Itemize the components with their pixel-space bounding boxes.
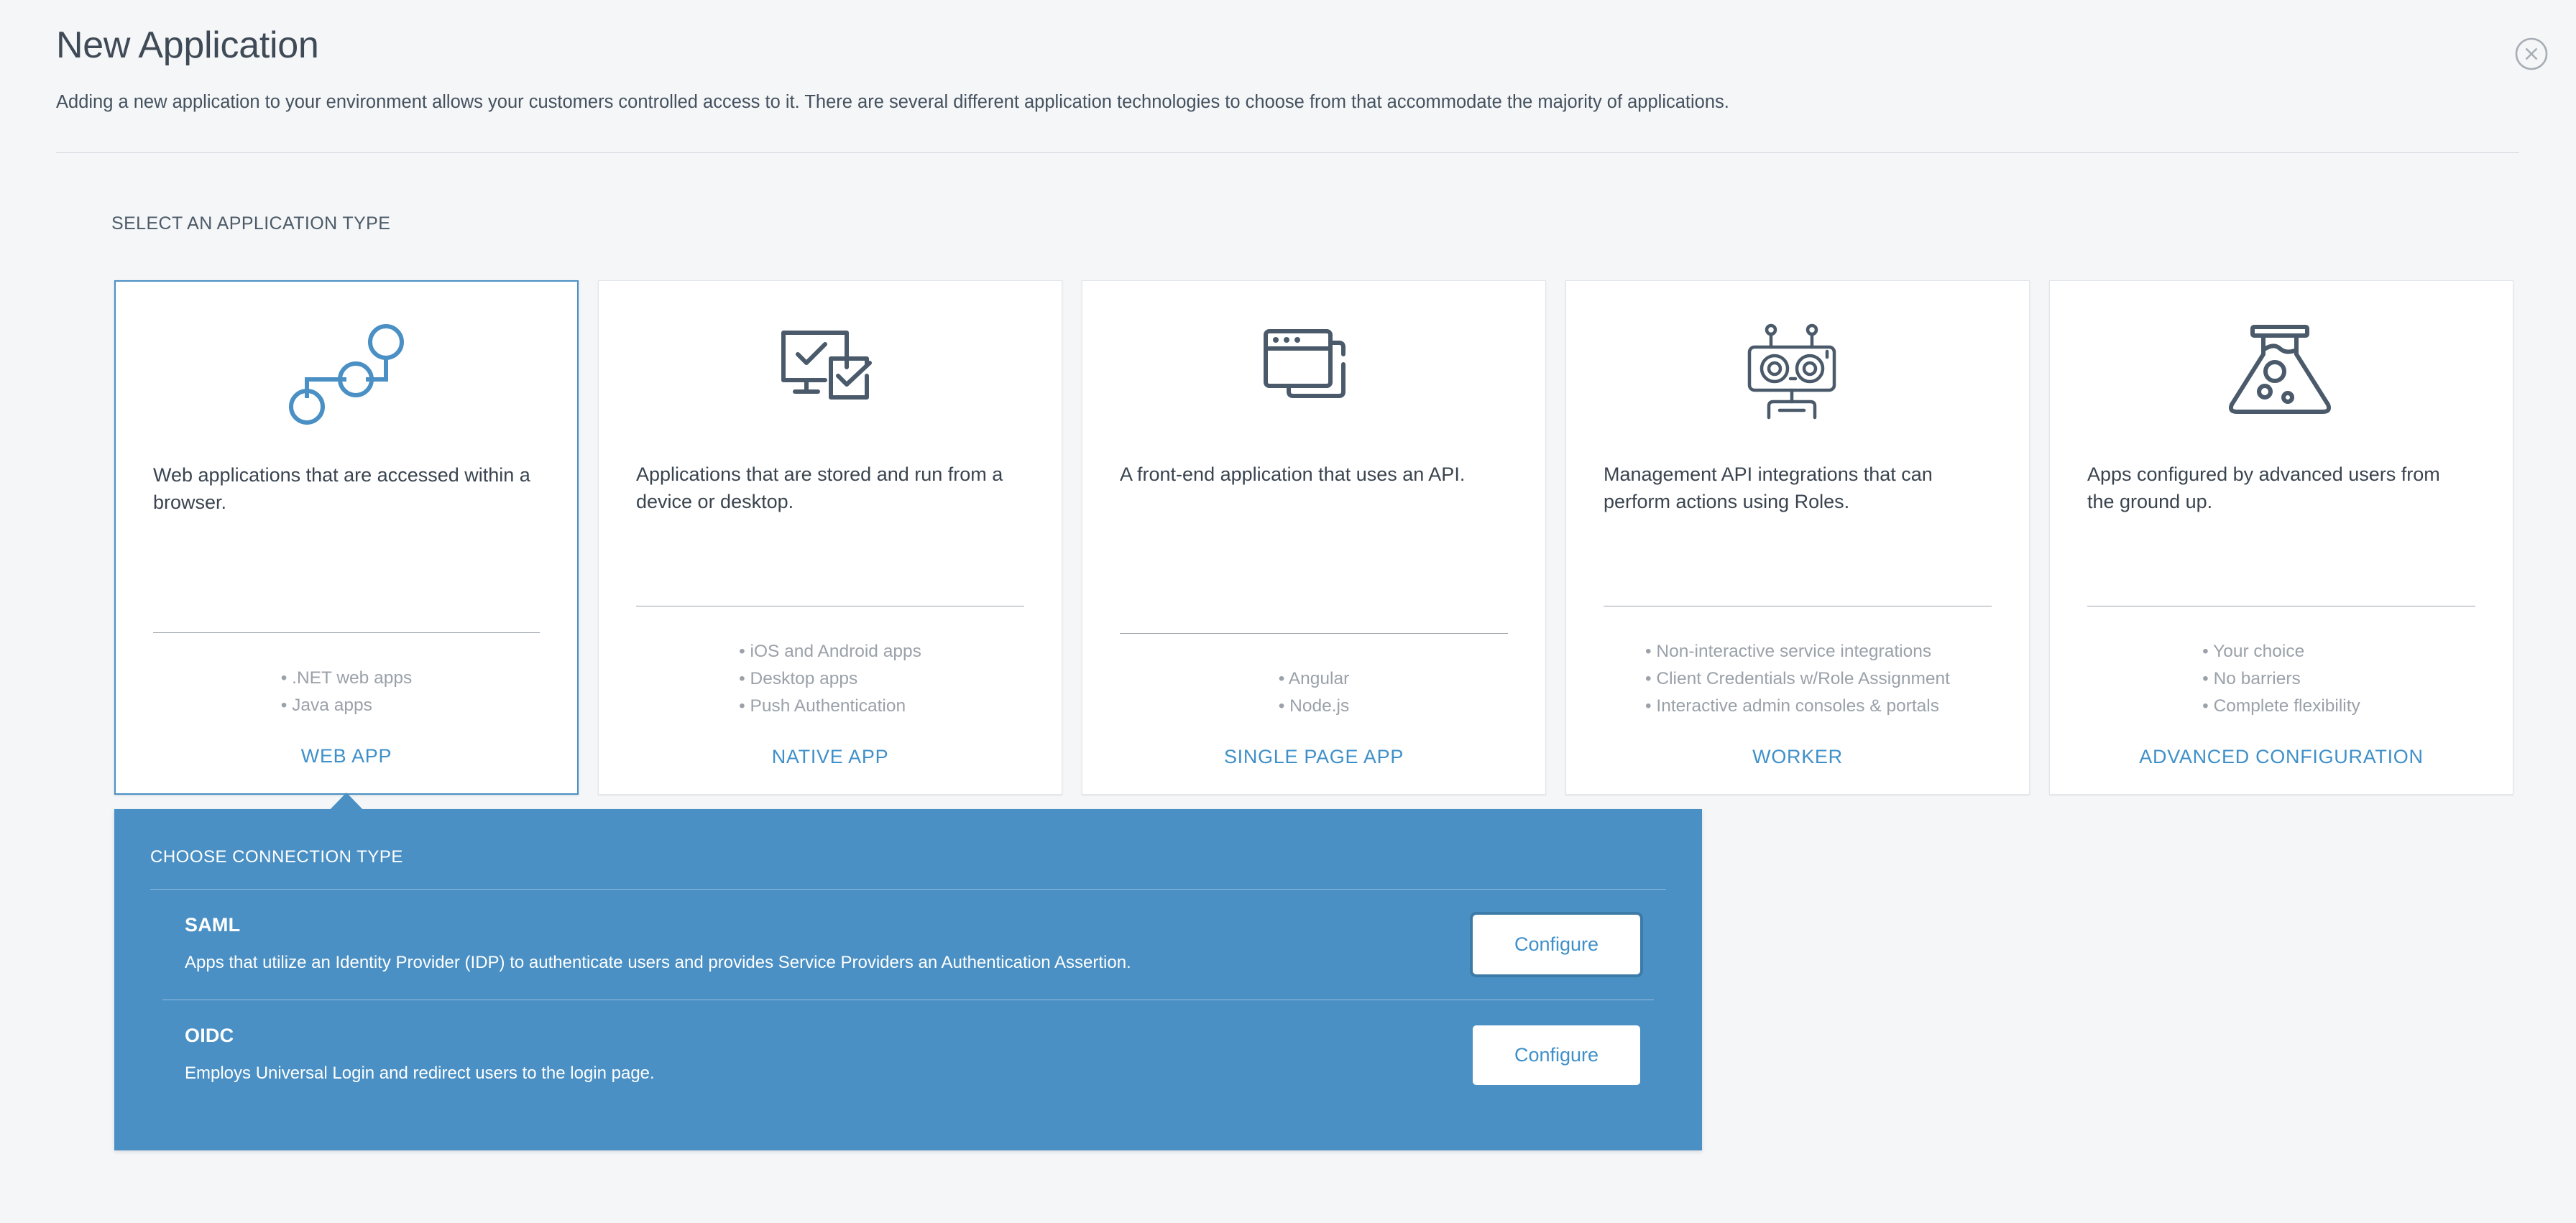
connection-name: SAML xyxy=(185,914,1444,936)
connection-row-body: OIDC Employs Universal Login and redirec… xyxy=(185,1025,1444,1086)
panel-title: CHOOSE CONNECTION TYPE xyxy=(150,809,1666,867)
list-item: Angular xyxy=(1279,665,1350,693)
dialog-header: New Application Adding a new application… xyxy=(56,24,2520,116)
connection-row-saml: SAML Apps that utilize an Identity Provi… xyxy=(150,890,1666,1000)
app-type-card-web-app[interactable]: Web applications that are accessed withi… xyxy=(114,280,579,795)
card-cta-label[interactable]: WORKER xyxy=(1604,720,1992,794)
application-type-cards: Web applications that are accessed withi… xyxy=(114,280,2520,795)
list-item: iOS and Android apps xyxy=(739,638,921,665)
list-item: Client Credentials w/Role Assignment xyxy=(1645,665,1950,693)
card-cta-label[interactable]: WEB APP xyxy=(153,719,540,793)
connection-description: Employs Universal Login and redirect use… xyxy=(185,1061,1444,1086)
connection-name: OIDC xyxy=(185,1025,1444,1047)
choose-connection-type-panel: CHOOSE CONNECTION TYPE SAML Apps that ut… xyxy=(114,809,1702,1150)
desktop-and-mobile-check-icon xyxy=(636,281,1024,461)
close-icon[interactable] xyxy=(2513,35,2550,73)
card-cta-label[interactable]: NATIVE APP xyxy=(636,720,1024,794)
card-feature-list: Angular Node.js xyxy=(1279,634,1350,720)
card-feature-list: .NET web apps Java apps xyxy=(281,633,412,719)
app-type-card-worker[interactable]: Management API integrations that can per… xyxy=(1565,280,2030,795)
card-description: Web applications that are accessed withi… xyxy=(153,461,540,546)
flask-icon xyxy=(2087,281,2475,461)
connection-description: Apps that utilize an Identity Provider (… xyxy=(185,951,1444,975)
configure-button-saml[interactable]: Configure xyxy=(1473,915,1640,974)
browser-windows-icon xyxy=(1120,281,1508,461)
page-subtitle: Adding a new application to your environ… xyxy=(56,89,2520,116)
list-item: No barriers xyxy=(2202,665,2360,693)
card-cta-label[interactable]: SINGLE PAGE APP xyxy=(1120,720,1508,794)
card-feature-list: iOS and Android apps Desktop apps Push A… xyxy=(739,606,921,720)
list-item: Non-interactive service integrations xyxy=(1645,638,1950,665)
card-feature-list: Non-interactive service integrations Cli… xyxy=(1645,606,1950,720)
list-item: Complete flexibility xyxy=(2202,693,2360,720)
app-type-card-advanced-configuration[interactable]: Apps configured by advanced users from t… xyxy=(2049,280,2513,795)
list-item: Node.js xyxy=(1279,693,1350,720)
list-item: .NET web apps xyxy=(281,665,412,692)
section-label: SELECT AN APPLICATION TYPE xyxy=(111,213,390,234)
list-item: Interactive admin consoles & portals xyxy=(1645,693,1950,720)
card-description: A front-end application that uses an API… xyxy=(1120,461,1508,545)
header-divider xyxy=(56,152,2519,153)
connected-nodes-icon xyxy=(153,282,540,461)
card-feature-list: Your choice No barriers Complete flexibi… xyxy=(2202,606,2360,720)
connection-row-body: SAML Apps that utilize an Identity Provi… xyxy=(185,914,1444,975)
selected-card-pointer xyxy=(323,793,369,816)
new-application-dialog: New Application Adding a new application… xyxy=(0,0,2576,1223)
list-item: Your choice xyxy=(2202,638,2360,665)
card-description: Applications that are stored and run fro… xyxy=(636,461,1024,545)
robot-icon xyxy=(1604,281,1992,461)
page-title: New Application xyxy=(56,24,2520,68)
app-type-card-native-app[interactable]: Applications that are stored and run fro… xyxy=(598,280,1062,795)
list-item: Java apps xyxy=(281,692,412,719)
app-type-card-single-page-app[interactable]: A front-end application that uses an API… xyxy=(1082,280,1546,795)
list-item: Desktop apps xyxy=(739,665,921,693)
card-cta-label[interactable]: ADVANCED CONFIGURATION xyxy=(2087,720,2475,794)
card-description: Apps configured by advanced users from t… xyxy=(2087,461,2475,545)
connection-row-oidc: OIDC Employs Universal Login and redirec… xyxy=(150,1000,1666,1110)
list-item: Push Authentication xyxy=(739,693,921,720)
card-description: Management API integrations that can per… xyxy=(1604,461,1992,545)
configure-button-oidc[interactable]: Configure xyxy=(1473,1025,1640,1085)
